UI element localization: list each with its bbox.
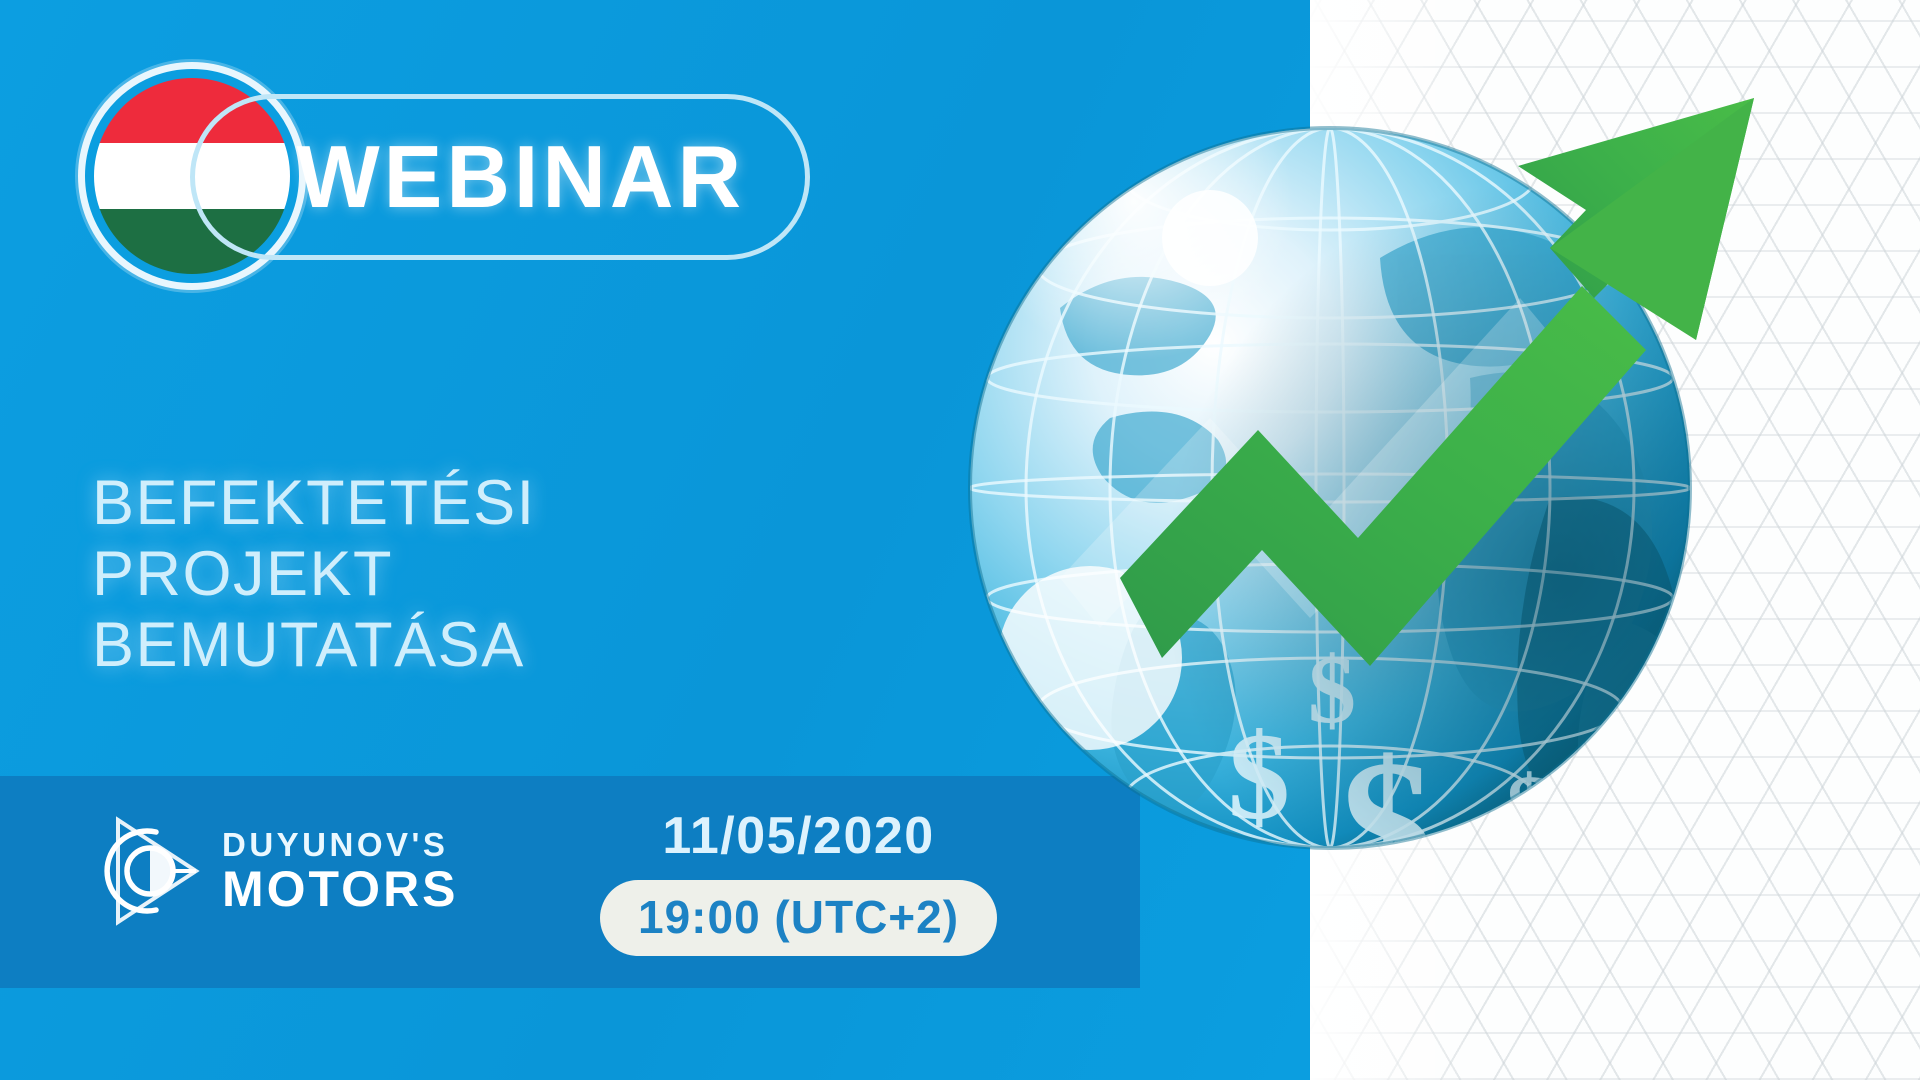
brand-name-bottom: MOTORS	[222, 864, 459, 914]
brand-name: DUYUNOV'S MOTORS	[222, 828, 459, 914]
duyunovs-motors-logo-icon	[100, 812, 204, 930]
event-date: 11/05/2020	[662, 806, 934, 866]
headline-line-3: BEMUTATÁSA	[92, 610, 852, 681]
webinar-banner: $ $ $ $	[0, 0, 1920, 1080]
event-time-badge: 19:00 (UTC+2)	[600, 880, 997, 956]
globe-svg: $ $ $ $	[910, 58, 1790, 958]
headline-line-1: BEFEKTETÉSI	[92, 468, 852, 539]
brand-logo: DUYUNOV'S MOTORS	[100, 812, 459, 930]
headline-block: BEFEKTETÉSI PROJEKT BEMUTATÁSA	[92, 468, 852, 682]
webinar-label: WEBINAR	[297, 133, 745, 221]
headline-line-2: PROJEKT	[92, 539, 852, 610]
brand-name-top: DUYUNOV'S	[222, 828, 459, 861]
schedule-block: 11/05/2020 19:00 (UTC+2)	[600, 806, 997, 956]
webinar-badge: WEBINAR	[190, 94, 810, 260]
globe-artwork: $ $ $ $	[910, 58, 1790, 958]
